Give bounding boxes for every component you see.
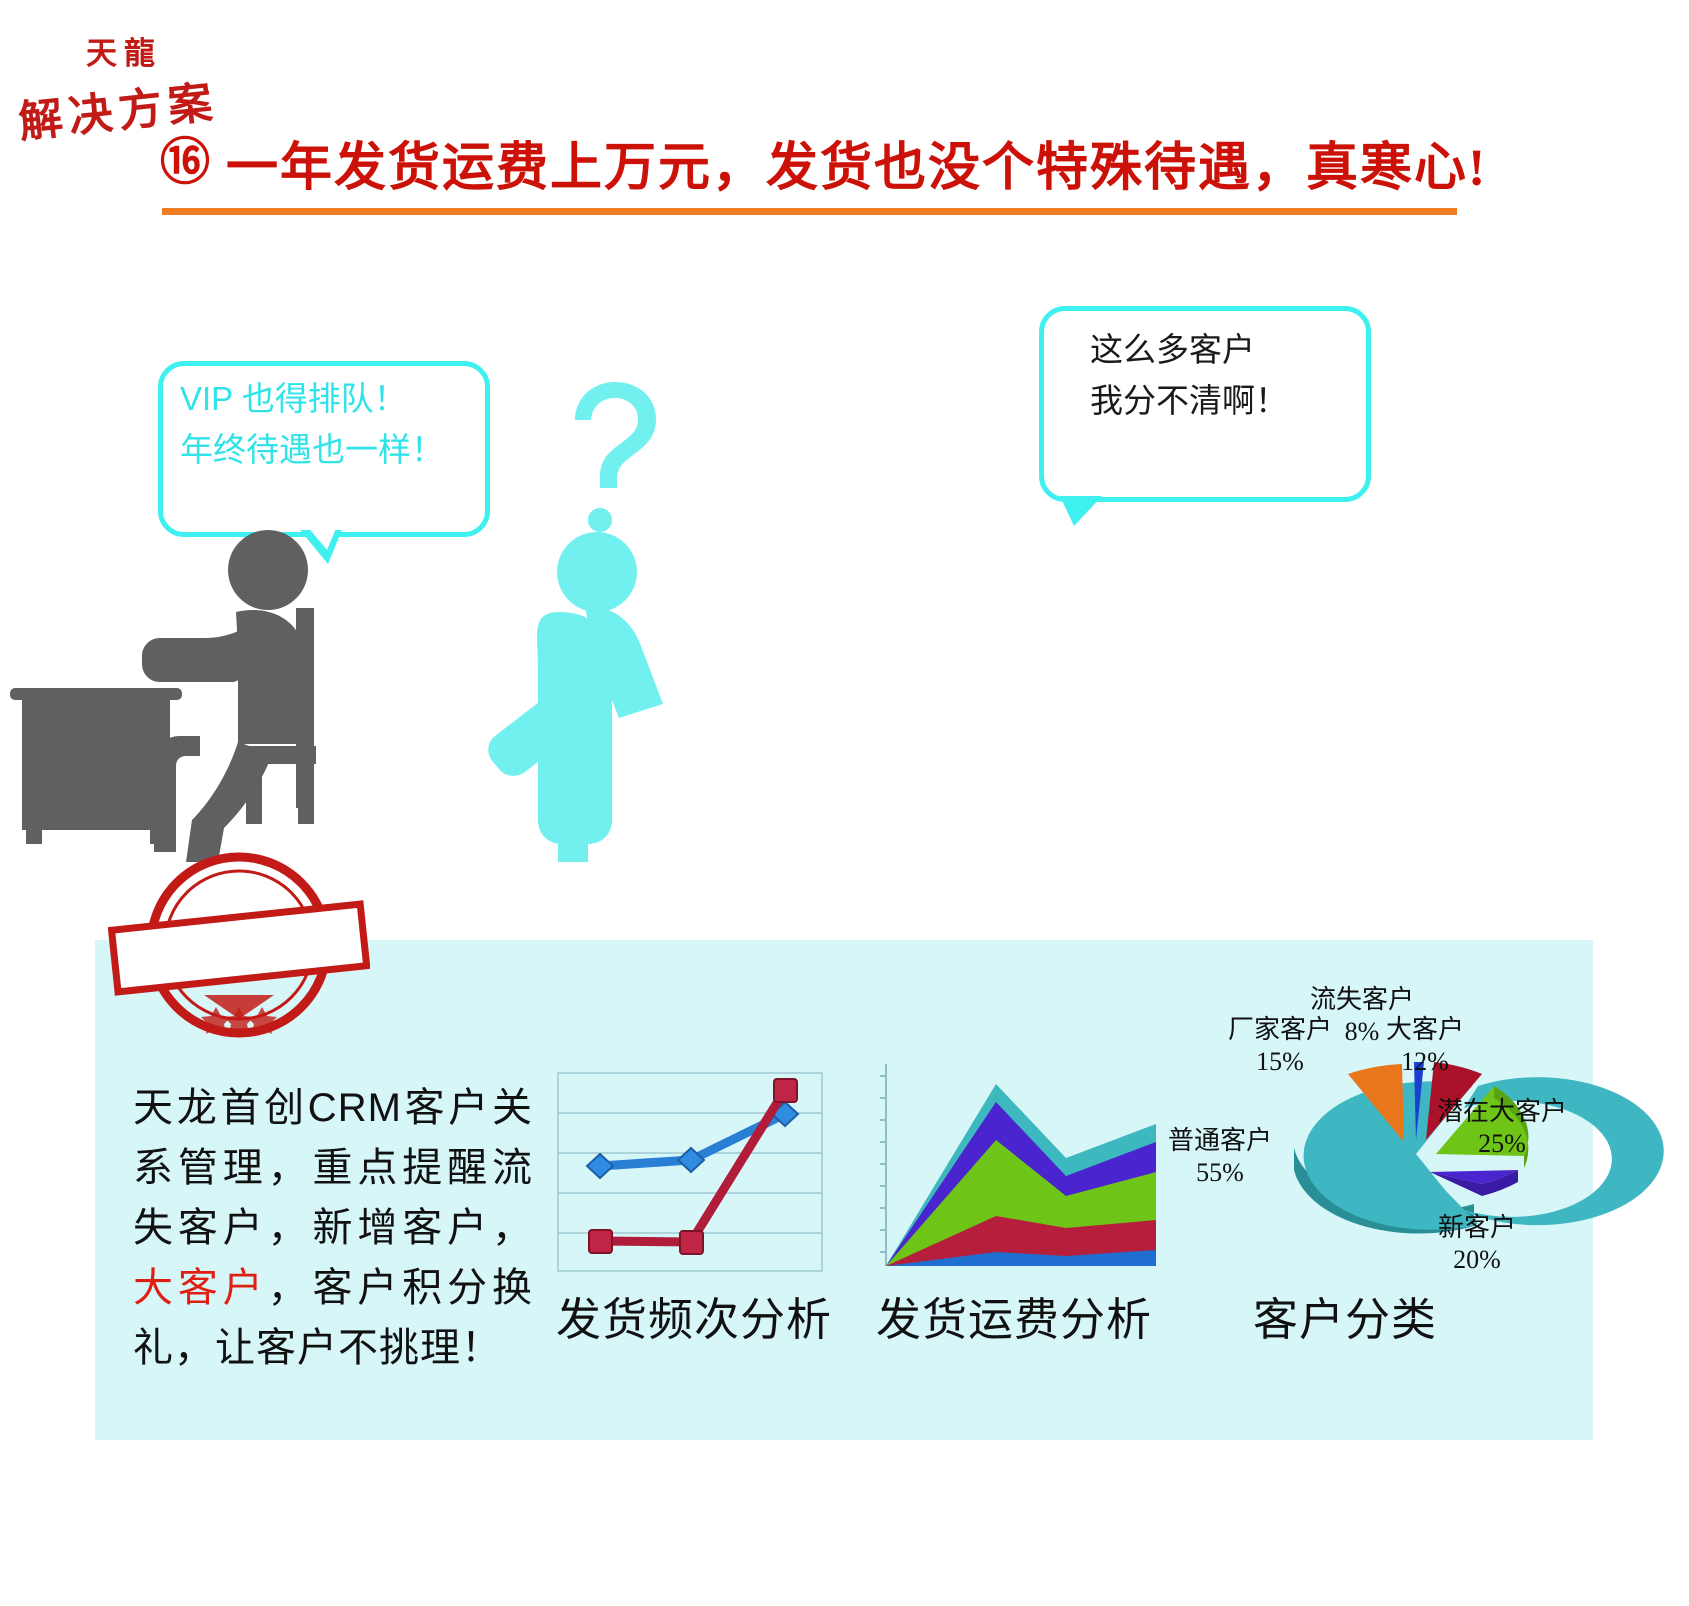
pie-label-factory-value: 15% xyxy=(1228,1046,1332,1078)
pie-label-potential-value: 25% xyxy=(1437,1128,1567,1160)
pie-label-new-name: 新客户 xyxy=(1438,1212,1516,1244)
pie-label-potential: 潜在大客户 25% xyxy=(1437,1096,1567,1159)
section-number: ⑯ xyxy=(160,137,212,187)
pie-chart-caption: 客户分类 xyxy=(1253,1283,1437,1348)
stamp-top-label: 天龍 xyxy=(86,28,162,73)
line-chart-caption: 发货频次分析 xyxy=(556,1283,832,1348)
standing-person-figure xyxy=(488,532,663,862)
pie-label-potential-name: 潜在大客户 xyxy=(1437,1096,1567,1128)
pie-label-factory-name: 厂家客户 xyxy=(1228,1014,1332,1046)
illustration-figures xyxy=(0,380,1200,880)
infographic-page: ⑯ 一年发货运费上万元，发货也没个特殊待遇，真寒心! VIP 也得排队！ 年终待… xyxy=(0,0,1689,1606)
question-mark-icon xyxy=(575,382,656,532)
pie-label-key: 大客户 12% xyxy=(1386,1014,1464,1077)
solution-text-plain: 天龙首创CRM客户关系管理，重点提醒流失客户，新增客户， xyxy=(133,1086,533,1250)
page-title-text: 一年发货运费上万元，发货也没个特殊待遇，真寒心! xyxy=(226,125,1487,200)
area-chart-shipment-cost xyxy=(866,1050,1166,1272)
area-chart-caption: 发货运费分析 xyxy=(876,1283,1152,1348)
pie-label-churned-name: 流失客户 xyxy=(1310,984,1414,1016)
solution-text-highlight: 大客户 xyxy=(133,1266,268,1310)
pie-label-key-value: 12% xyxy=(1386,1046,1464,1078)
pie-label-new-value: 20% xyxy=(1438,1244,1516,1276)
pie-label-ordinary-name: 普通客户 xyxy=(1168,1125,1272,1157)
solution-body-text: 天龙首创CRM客户关系管理，重点提醒流失客户，新增客户，大客户，客户积分换礼，让… xyxy=(133,1078,533,1378)
page-title: ⑯ 一年发货运费上万元，发货也没个特殊待遇，真寒心! xyxy=(160,126,1480,198)
title-underline-divider xyxy=(162,208,1457,215)
line-chart-shipment-frequency xyxy=(557,1072,823,1272)
pie-label-factory: 厂家客户 15% xyxy=(1228,1014,1332,1077)
pie-label-ordinary: 普通客户 55% xyxy=(1168,1125,1272,1188)
solution-stamp xyxy=(108,845,370,1045)
pie-label-ordinary-value: 55% xyxy=(1168,1157,1272,1189)
pie-label-new: 新客户 20% xyxy=(1438,1212,1516,1275)
pie-label-key-name: 大客户 xyxy=(1386,1014,1464,1046)
